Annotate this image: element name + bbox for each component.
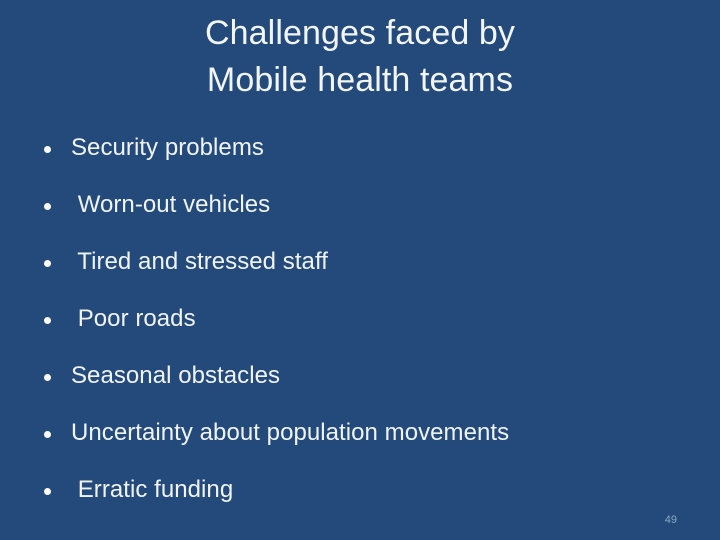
bullet-dot-icon <box>44 203 51 210</box>
list-item: Worn-out vehicles <box>40 190 680 247</box>
slide-title: Challenges faced by Mobile health teams <box>0 10 720 104</box>
bullet-dot-icon <box>44 431 51 438</box>
bullet-dot-icon <box>44 374 51 381</box>
bullet-item-label: Tired and stressed staff <box>71 247 328 277</box>
list-item: Seasonal obstacles <box>40 361 680 418</box>
bullet-item-label: Security problems <box>71 133 264 163</box>
bullet-dot-icon <box>44 260 51 267</box>
presentation-slide: Challenges faced by Mobile health teams … <box>0 0 720 540</box>
slide-title-line-1: Challenges faced by <box>0 10 720 57</box>
bullet-item-label: Worn-out vehicles <box>71 190 270 220</box>
bullet-dot-icon <box>44 317 51 324</box>
list-item: Security problems <box>40 133 680 190</box>
slide-page-number: 49 <box>665 514 677 527</box>
list-item: Tired and stressed staff <box>40 247 680 304</box>
bullet-item-label: Uncertainty about population movements <box>71 418 509 448</box>
bullet-item-label: Seasonal obstacles <box>71 361 280 391</box>
bullet-list: Security problems Worn-out vehicles Tire… <box>40 133 680 532</box>
bullet-item-label: Erratic funding <box>71 475 233 505</box>
bullet-item-label: Poor roads <box>71 304 196 334</box>
slide-title-line-2: Mobile health teams <box>0 57 720 104</box>
list-item: Poor roads <box>40 304 680 361</box>
bullet-dot-icon <box>44 488 51 495</box>
list-item: Erratic funding <box>40 475 680 532</box>
bullet-dot-icon <box>44 146 51 153</box>
list-item: Uncertainty about population movements <box>40 418 680 475</box>
